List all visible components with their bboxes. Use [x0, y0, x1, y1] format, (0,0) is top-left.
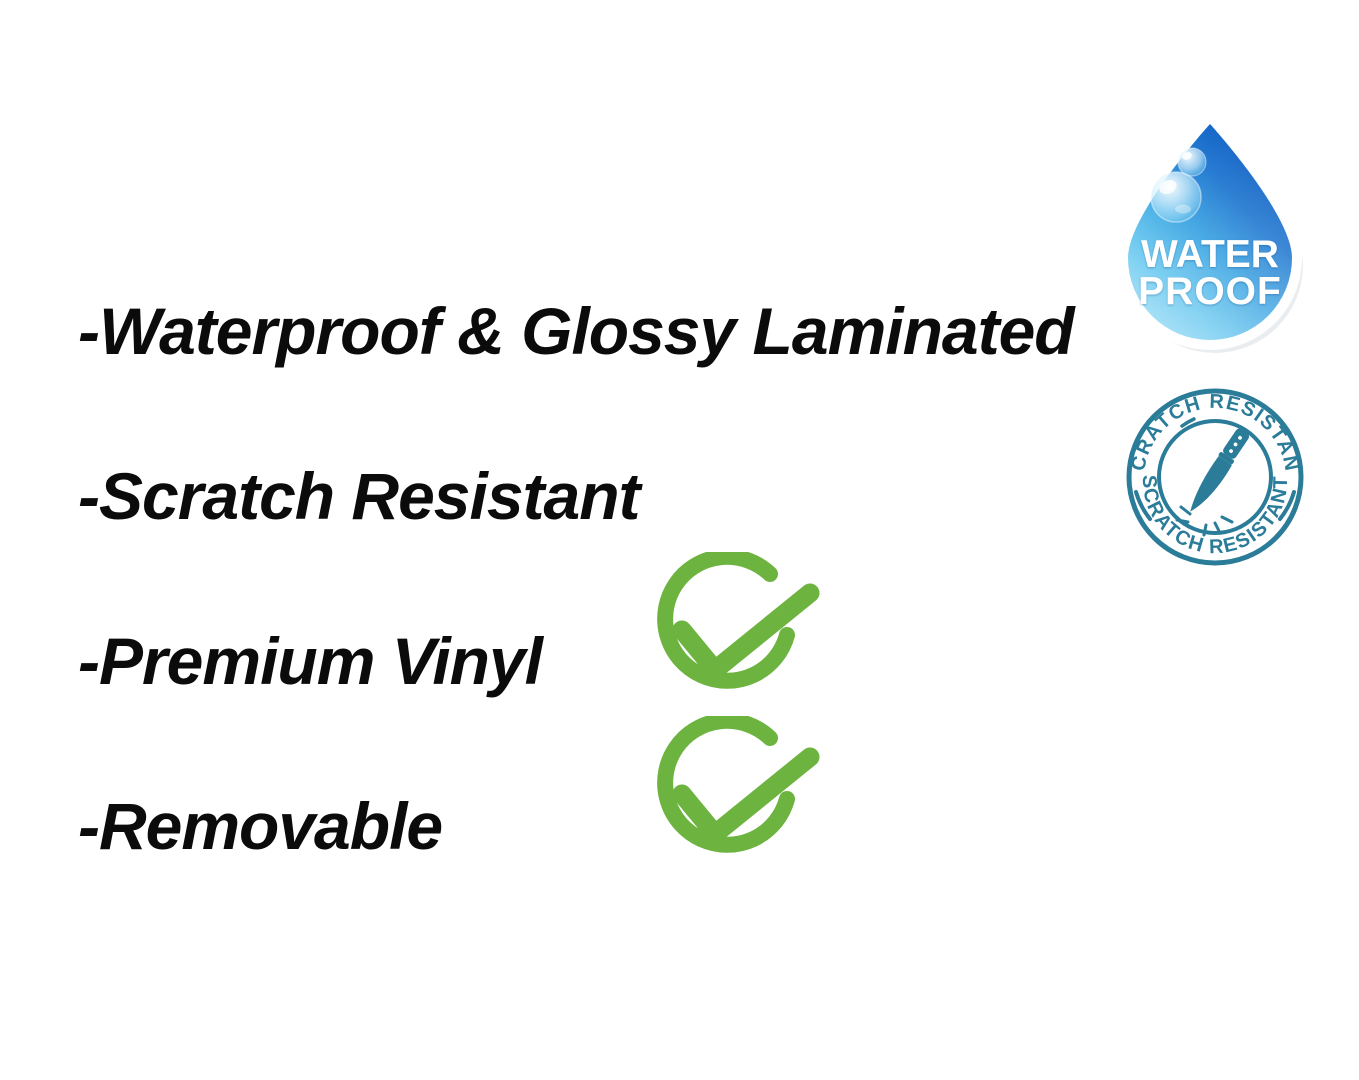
page-canvas: -Waterproof & Glossy Laminated -Scratch … — [0, 0, 1359, 1080]
waterproof-badge: WATER PROOF — [1104, 104, 1316, 362]
scratch-text-top: SCRATCH RESISTANT — [1122, 386, 1303, 474]
feature-label-premium-vinyl: -Premium Vinyl — [78, 628, 542, 694]
svg-text:SCRATCH RESISTANT: SCRATCH RESISTANT — [1122, 386, 1303, 474]
feature-label-scratch-resistant: -Scratch Resistant — [78, 463, 640, 529]
list-item: -Removable — [78, 743, 1088, 908]
list-item: -Waterproof & Glossy Laminated — [78, 248, 1088, 413]
feature-label-waterproof: -Waterproof & Glossy Laminated — [78, 298, 1074, 364]
scratch-resistant-badge: SCRATCH RESISTANT SCRATCH RESISTANT — [1122, 386, 1308, 566]
water-drop-icon — [1104, 104, 1316, 362]
list-item: -Scratch Resistant — [78, 413, 1088, 578]
feature-list: -Waterproof & Glossy Laminated -Scratch … — [78, 248, 1088, 908]
check-circle-icon — [640, 716, 822, 882]
knife-stamp-icon: SCRATCH RESISTANT SCRATCH RESISTANT — [1122, 386, 1308, 566]
feature-label-removable: -Removable — [78, 793, 442, 859]
check-circle-icon — [640, 552, 822, 718]
list-item: -Premium Vinyl — [78, 578, 1088, 743]
